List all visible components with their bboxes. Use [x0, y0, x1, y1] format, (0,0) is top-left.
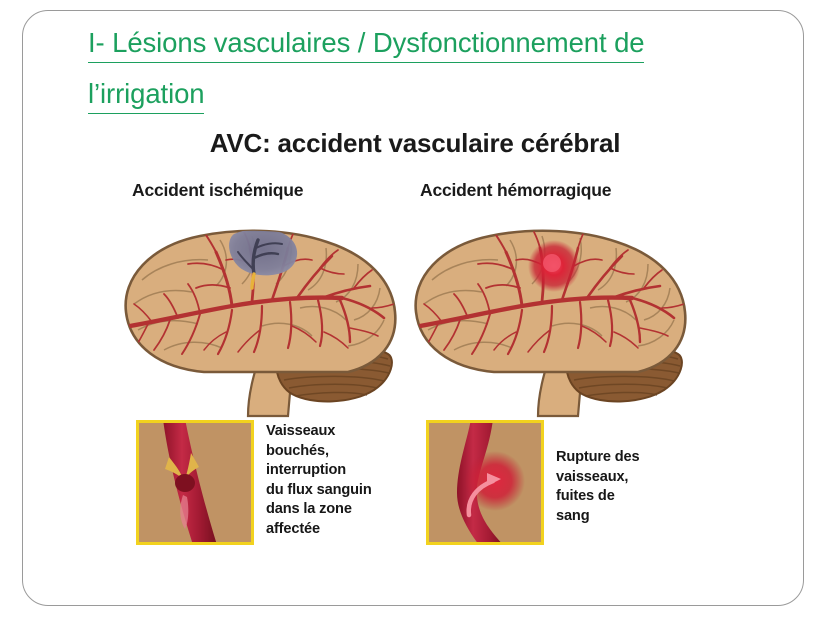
inset-box-blocked-vessel	[136, 420, 254, 545]
title-line-2-text: l’irrigation	[88, 77, 204, 114]
caption-line: dans la zone	[266, 500, 434, 520]
figure-title: AVC: accident vasculaire cérébral	[110, 128, 720, 159]
caption-line: vaisseaux,	[556, 468, 724, 488]
caption-line: Vaisseaux	[266, 422, 434, 442]
avc-figure: AVC: accident vasculaire cérébral Accide…	[110, 128, 720, 568]
inset-row-hemorrhagic: Rupture des vaisseaux, fuites de sang	[426, 420, 726, 568]
caption-line: fuites de	[556, 487, 724, 507]
brain-illustration-hemorrhagic	[402, 208, 702, 423]
caption-line: sang	[556, 507, 724, 527]
slide-canvas: I- Lésions vasculaires / Dysfonctionneme…	[0, 0, 828, 621]
inset-box-ruptured-vessel	[426, 420, 544, 545]
brain-illustration-ischemic	[112, 208, 412, 423]
slide-title: I- Lésions vasculaires / Dysfonctionneme…	[88, 26, 788, 114]
panel-label-hemorrhagic: Accident hémorragique	[420, 180, 611, 201]
title-line-1: I- Lésions vasculaires / Dysfonctionneme…	[88, 26, 788, 63]
title-line-1-text: I- Lésions vasculaires / Dysfonctionneme…	[88, 26, 644, 63]
caption-hemorrhagic: Rupture des vaisseaux, fuites de sang	[556, 448, 724, 526]
panel-label-ischemic: Accident ischémique	[132, 180, 303, 201]
caption-line: Rupture des	[556, 448, 724, 468]
caption-line: interruption	[266, 461, 434, 481]
caption-ischemic: Vaisseaux bouchés, interruption du flux …	[266, 422, 434, 539]
caption-line: affectée	[266, 520, 434, 540]
inset-row-ischemic: Vaisseaux bouchés, interruption du flux …	[136, 420, 436, 568]
caption-line: bouchés,	[266, 442, 434, 462]
title-line-2: l’irrigation	[88, 77, 788, 114]
caption-line: du flux sanguin	[266, 481, 434, 501]
